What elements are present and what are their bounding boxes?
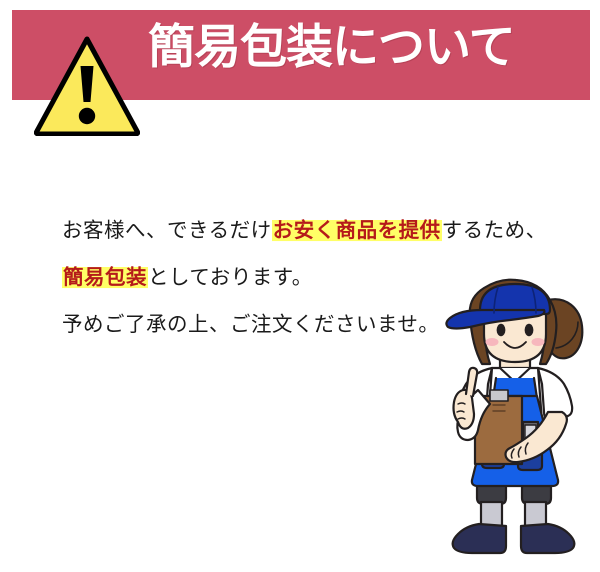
promo-notice-page: 簡易包装について お客様へ、できるだけお安く商品を提供するため、 簡易包装として… bbox=[0, 0, 600, 572]
warning-triangle-icon bbox=[34, 36, 140, 136]
notice-line-1: お客様へ、できるだけお安く商品を提供するため、 bbox=[62, 207, 562, 254]
page-title: 簡易包装について bbox=[148, 18, 568, 82]
notice-text-emphasis: 簡易包装 bbox=[62, 265, 148, 289]
notice-text-plain: としております。 bbox=[148, 265, 313, 289]
notice-text-plain: 予めご了承の上、ご注文くださいませ。 bbox=[62, 312, 439, 336]
female-staff-character-illustration bbox=[430, 272, 600, 570]
notice-text-emphasis: お安く商品を提供 bbox=[272, 218, 442, 242]
notice-text-plain: お客様へ、できるだけ bbox=[62, 218, 272, 242]
notice-text-plain: するため、 bbox=[442, 218, 547, 242]
